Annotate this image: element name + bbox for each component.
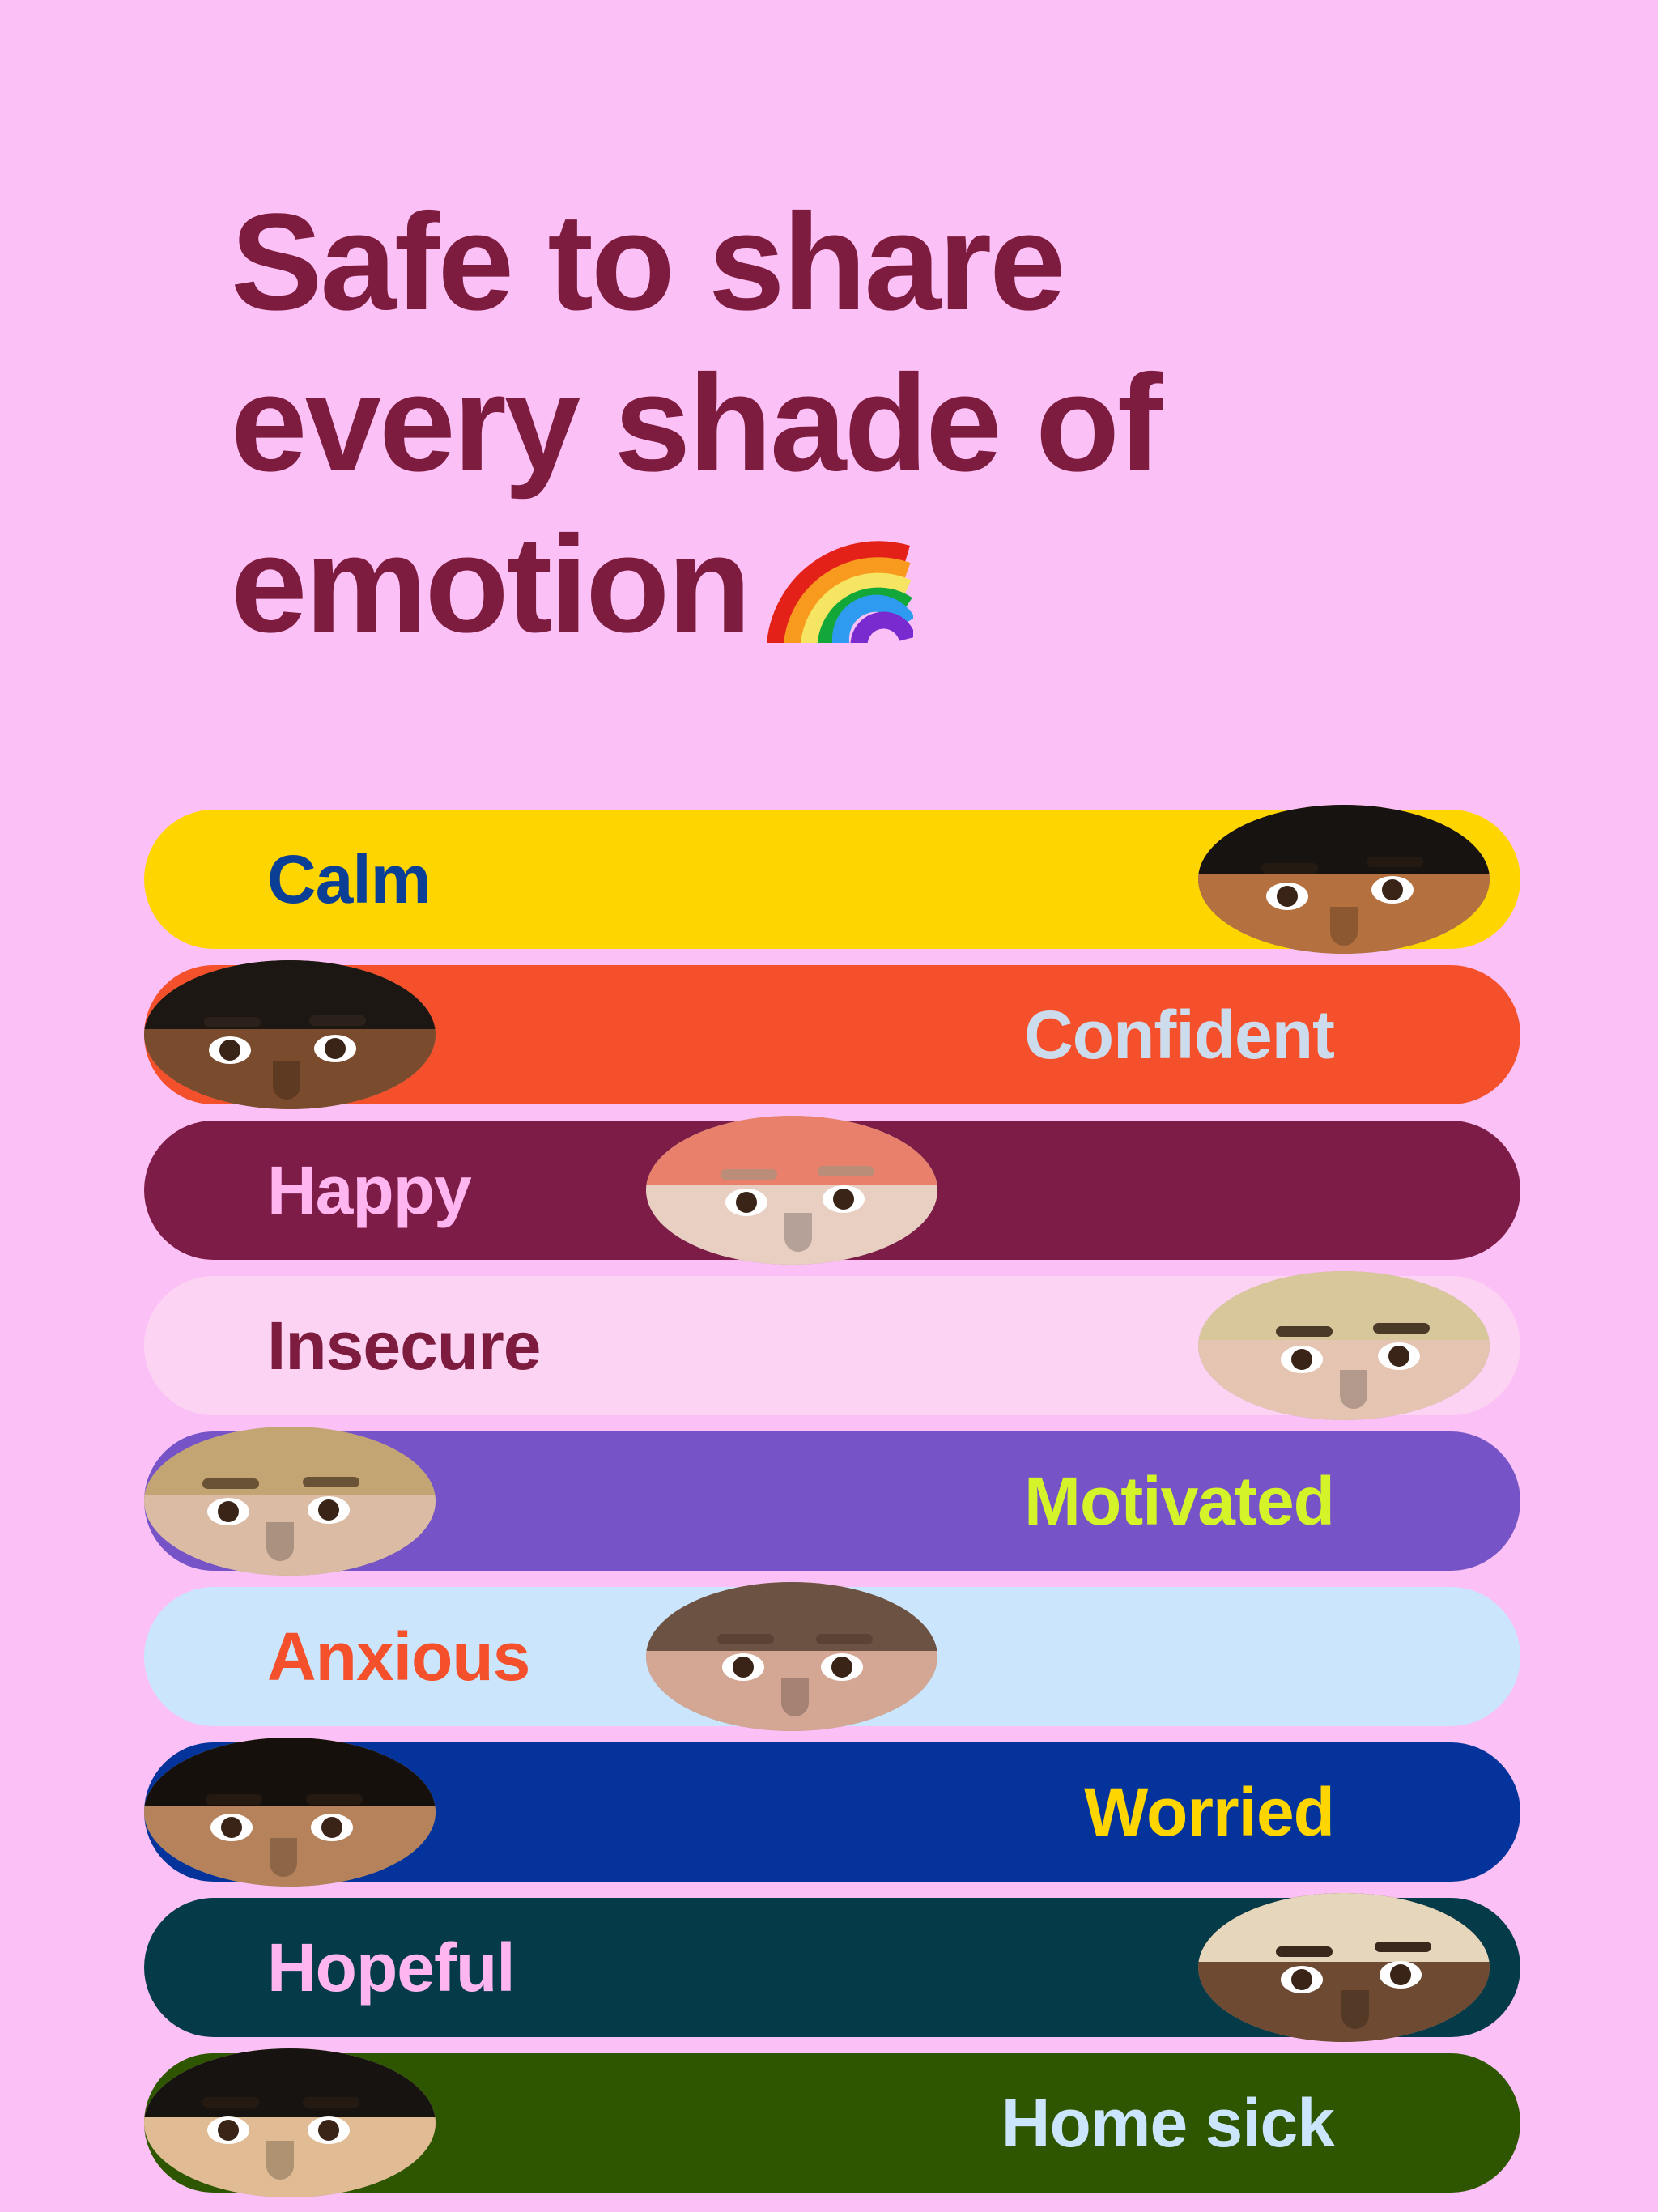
portrait-worried xyxy=(144,1738,436,1887)
headline-line-3-text: emotion xyxy=(231,508,749,661)
emotion-pill-list: Calm Confident xyxy=(144,810,1520,2193)
list-item[interactable]: Hopeful xyxy=(144,1898,1520,2037)
emotion-label: Confident xyxy=(1024,996,1334,1074)
portrait-calm xyxy=(1198,805,1490,954)
list-item[interactable]: Motivated xyxy=(144,1431,1520,1571)
emotion-label: Motivated xyxy=(1024,1462,1334,1541)
rainbow-icon xyxy=(763,516,913,677)
emotion-label: Insecure xyxy=(267,1307,541,1385)
emotion-label: Hopeful xyxy=(267,1929,515,2007)
portrait-confident xyxy=(144,960,436,1109)
portrait-motivated xyxy=(144,1427,436,1576)
page-title: Safe to share every shade of emotion xyxy=(231,182,1445,677)
headline-line-2: every shade of xyxy=(231,343,1445,504)
portrait-insecure xyxy=(1198,1271,1490,1420)
portrait-anxious xyxy=(646,1582,937,1731)
list-item[interactable]: Anxious xyxy=(144,1587,1520,1726)
emotion-label: Calm xyxy=(267,840,430,919)
emotion-label: Anxious xyxy=(267,1618,529,1696)
list-item[interactable]: Calm xyxy=(144,810,1520,949)
emotion-label: Happy xyxy=(267,1151,471,1230)
list-item[interactable]: Home sick xyxy=(144,2053,1520,2193)
portrait-happy xyxy=(646,1116,937,1265)
headline-line-3: emotion xyxy=(231,504,1445,677)
portrait-hopeful xyxy=(1198,1893,1490,2042)
headline-line-1: Safe to share xyxy=(231,182,1445,343)
emotion-label: Worried xyxy=(1084,1773,1334,1852)
list-item[interactable]: Worried xyxy=(144,1742,1520,1882)
list-item[interactable]: Confident xyxy=(144,965,1520,1104)
emotion-label: Home sick xyxy=(1001,2084,1334,2163)
list-item[interactable]: Happy xyxy=(144,1121,1520,1260)
list-item[interactable]: Insecure xyxy=(144,1276,1520,1415)
portrait-homesick xyxy=(144,2048,436,2197)
